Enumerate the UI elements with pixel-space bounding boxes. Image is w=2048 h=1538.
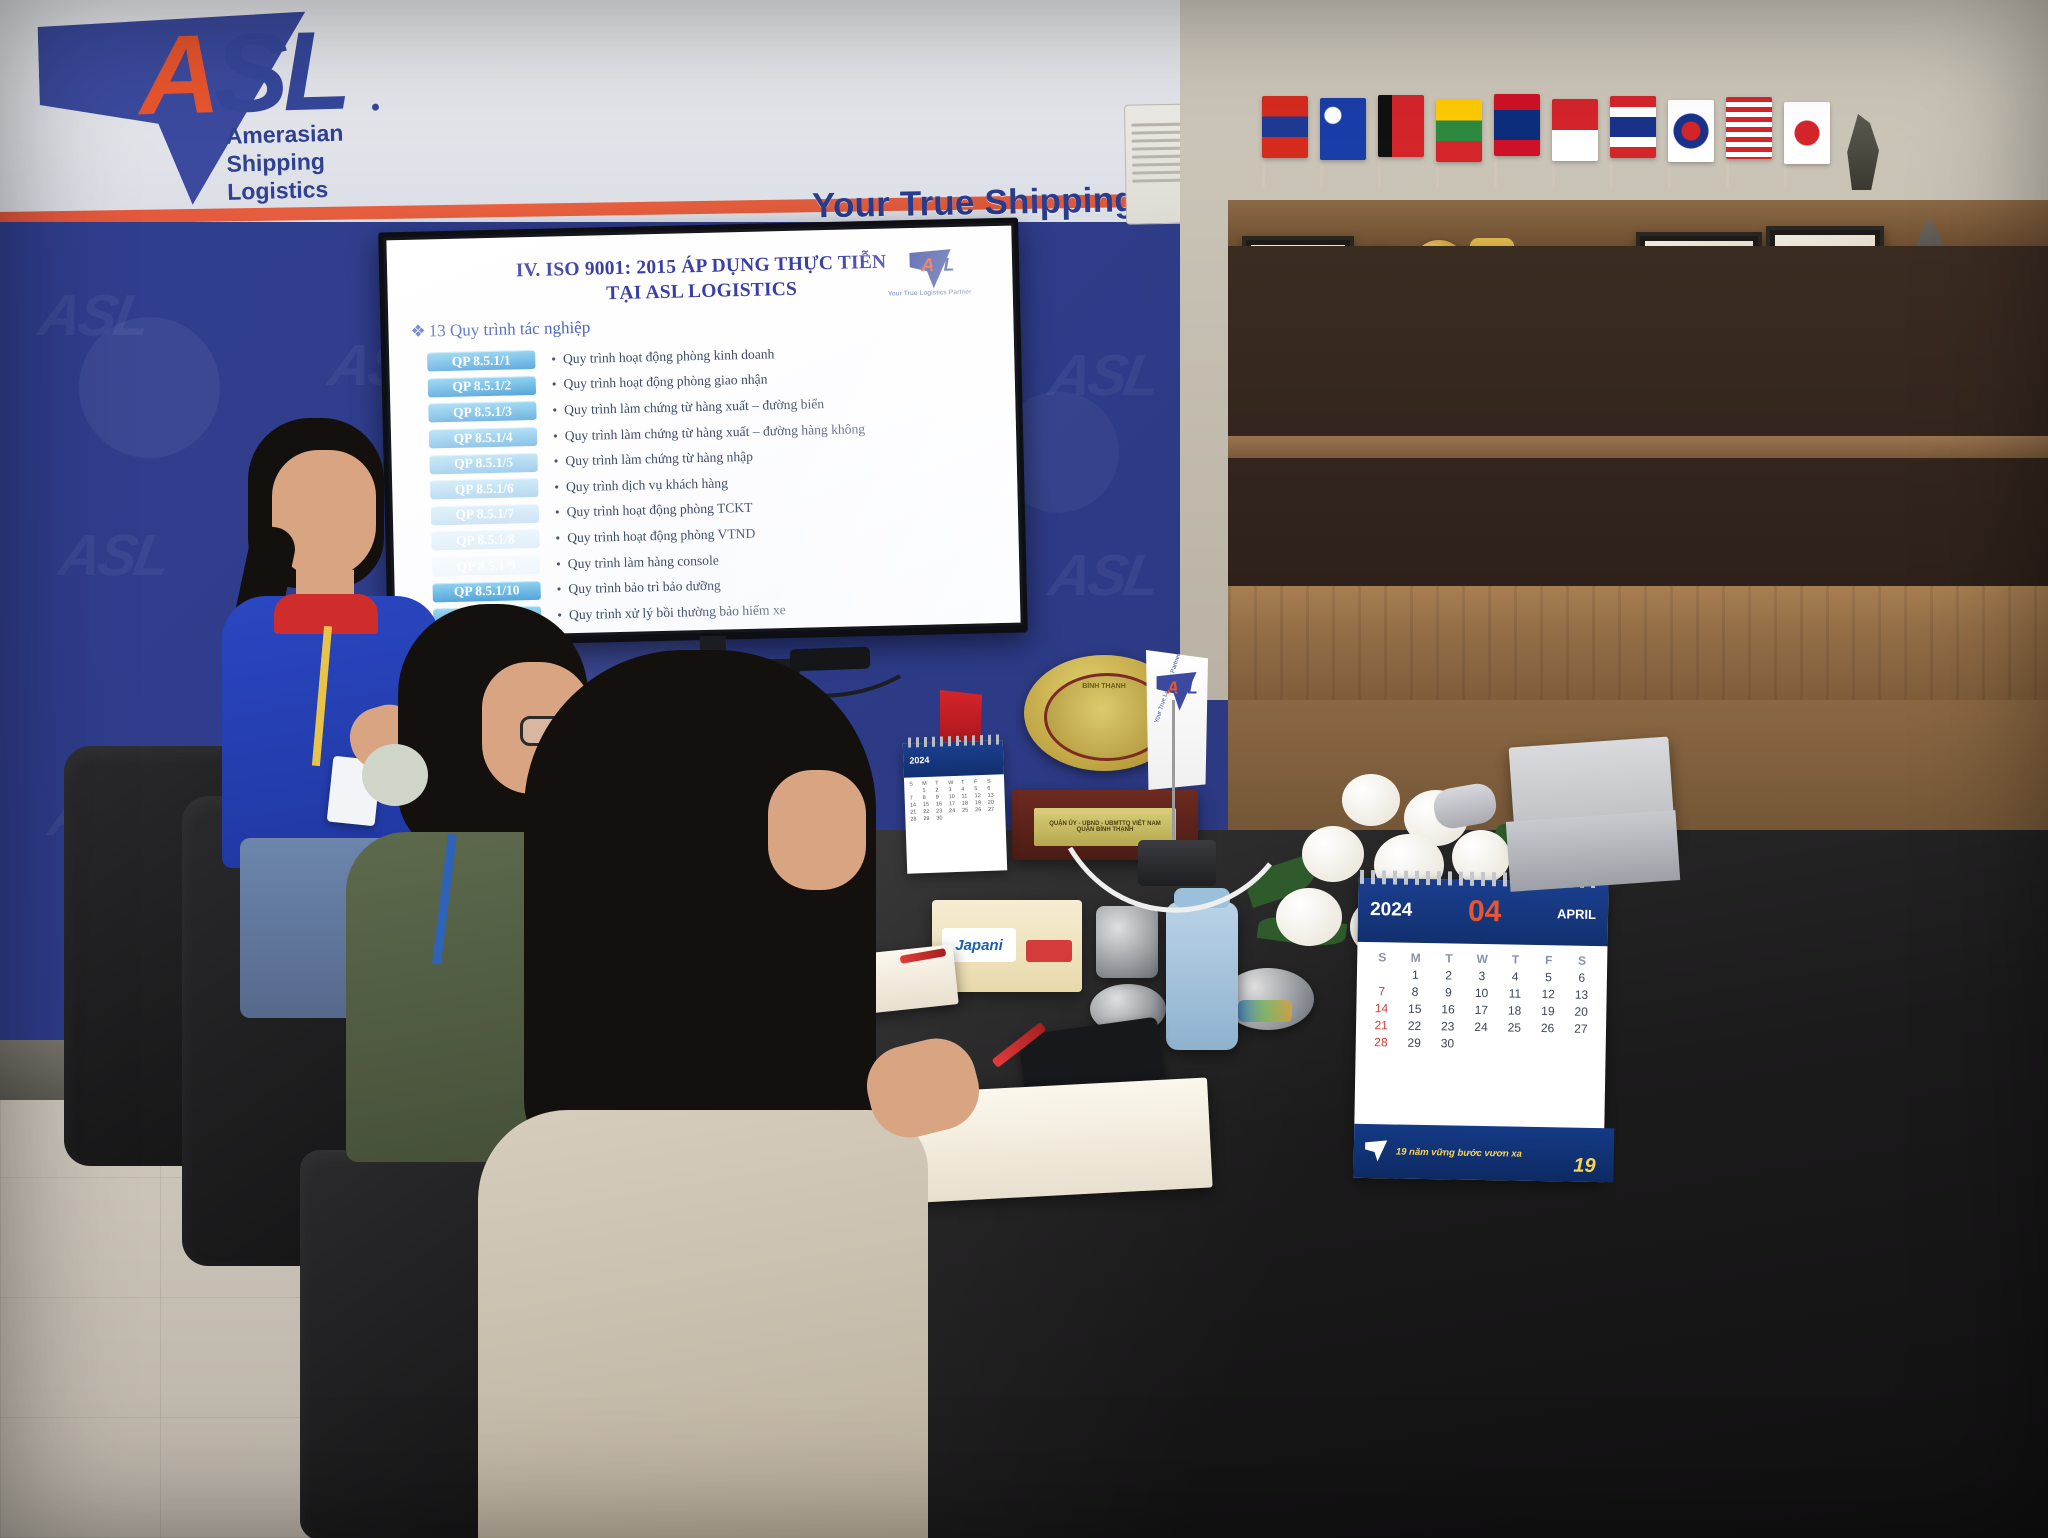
bronze-statue: [1834, 114, 1894, 190]
foreground-hair: [524, 650, 876, 1170]
wall-calendar-grid: SMTWTFS123456789101112131415161718192021…: [1356, 942, 1608, 1061]
watermark-asl: ASL: [34, 282, 153, 349]
calendar-weekday: F: [1534, 953, 1565, 968]
process-description: •Quy trình hoạt động phòng giao nhận: [552, 372, 768, 393]
calendar-day: 1: [1400, 968, 1431, 983]
asl-letter-a: A: [137, 11, 215, 138]
calendar-day: 15: [1400, 1002, 1431, 1017]
bullet-icon: •: [553, 454, 558, 469]
flag-myanmar: [1436, 100, 1482, 162]
flag-row: [1248, 86, 2038, 198]
asl-logo-dot: [372, 104, 379, 111]
diamond-bullet-icon: ❖: [410, 322, 426, 341]
calendar-weekday: T: [1434, 951, 1465, 966]
slide-asl-logo: A SL Your True Logistics Partner: [882, 249, 977, 298]
wall-calendar-month: APRIL: [1557, 906, 1596, 922]
calendar-day: 6: [1567, 970, 1598, 985]
slide-subtitle-text: 13 Quy trình tác nghiệp: [429, 318, 591, 341]
flag-cambodia: [1262, 96, 1308, 158]
company-line-3: Logistics: [227, 175, 345, 206]
process-description: •Quy trình hoạt động phòng VTND: [555, 526, 755, 547]
foreground-face: [768, 770, 866, 890]
calendar-day: 28: [1366, 1035, 1397, 1050]
asl-company-name: Amerasian Shipping Logistics: [225, 119, 345, 206]
calendar-day: 23: [1433, 1019, 1464, 1034]
calendar-day: 7: [1367, 984, 1398, 999]
calendar-weekday: W: [1467, 952, 1498, 967]
asl-banner-logo: ASL Amerasian Shipping Logistics: [37, 5, 402, 215]
process-list: QP 8.5.1/1•Quy trình hoạt động phòng kin…: [417, 336, 1005, 637]
calendar-day: 12: [1533, 987, 1564, 1002]
bullet-icon: •: [555, 505, 560, 520]
wall-calendar-year: 2024: [1370, 899, 1413, 922]
process-description: •Quy trình làm chứng từ hàng xuất – đườn…: [553, 421, 865, 444]
calendar-day: 30: [1432, 1036, 1463, 1051]
process-description: •Quy trình làm hàng console: [556, 552, 719, 572]
process-description-text: Quy trình hoạt động phòng kinh doanh: [563, 346, 775, 366]
calendar-weekday: T: [1500, 952, 1531, 967]
calendar-day: [1565, 1038, 1596, 1053]
calendar-weekday: M: [1400, 951, 1431, 966]
calendar-day: [1465, 1037, 1496, 1052]
calendar-day: 26: [1532, 1021, 1563, 1036]
asl-mark-icon: A SL: [909, 249, 950, 288]
bullet-icon: •: [556, 582, 561, 597]
watermark-asl: ASL: [54, 522, 173, 589]
process-description: •Quy trình làm chứng từ hàng nhập: [553, 449, 753, 470]
calendar-day: 13: [1566, 987, 1597, 1002]
hair-scrunchie: [362, 744, 428, 806]
process-description: •Quy trình hoạt động phòng TCKT: [555, 500, 753, 521]
company-line-2: Shipping: [226, 147, 344, 178]
person-attendee-foreground: [468, 650, 928, 1538]
process-description-text: Quy trình dịch vụ khách hàng: [566, 475, 728, 494]
calendar-day: 20: [1566, 1004, 1597, 1019]
bullet-icon: •: [551, 351, 556, 366]
wall-calendar-month-num: 04: [1468, 895, 1502, 930]
calendar-day: 19: [1533, 1004, 1564, 1019]
meeting-room-photo: ASL ASL ASL ASL ASL ASL ASL ASL Amerasia…: [0, 0, 2048, 1538]
calendar-day: 29: [1399, 1036, 1430, 1051]
power-cable: [1060, 830, 1280, 940]
laptop-keyboard: [1506, 810, 1680, 892]
foreground-beige-top: [478, 1110, 928, 1538]
slide-logo-caption: Your True Logistics Partner: [883, 289, 977, 298]
flag-singapore: [1552, 99, 1598, 161]
calendar-day: 10: [1466, 986, 1497, 1001]
trophy-title: BÌNH THẠNH: [1064, 683, 1144, 690]
calendar-day: 2: [1433, 968, 1464, 983]
calendar-day: [1367, 967, 1398, 982]
calendar-day: 18: [1499, 1003, 1530, 1018]
cabinet-dark-front: [1228, 246, 2048, 586]
calendar-day: 27: [1566, 1021, 1597, 1036]
watermark-asl: ASL: [1044, 342, 1163, 409]
calendar-day: [1532, 1038, 1563, 1053]
process-description-text: Quy trình làm hàng console: [568, 552, 719, 571]
calendar-day: 8: [1400, 985, 1431, 1000]
process-description-text: Quy trình hoạt động phòng VTND: [567, 526, 755, 545]
process-description: •Quy trình hoạt động phòng kinh doanh: [551, 346, 775, 367]
calendar-day: 3: [1467, 969, 1498, 984]
bullet-icon: •: [552, 402, 557, 417]
anniversary-badge: 19: [1573, 1155, 1596, 1178]
calendar-day: 24: [1466, 1020, 1497, 1035]
process-description-text: Quy trình hoạt động phòng TCKT: [566, 500, 752, 519]
calendar-day: 21: [1366, 1018, 1397, 1033]
bullet-icon: •: [552, 377, 557, 392]
flag-usa: [1726, 97, 1772, 159]
calendar-day: [1499, 1037, 1530, 1052]
company-line-1: Amerasian: [225, 119, 343, 150]
bullet-icon: •: [554, 479, 559, 494]
process-description: •Quy trình dịch vụ khách hàng: [554, 475, 728, 495]
wall-calendar-footer: 19 năm vững bước vươn xa: [1396, 1146, 1522, 1159]
calendar-day: 25: [1499, 1020, 1530, 1035]
flag-laos: [1494, 94, 1540, 156]
asl-table-flag: A SL Your True Logistics Partner: [1146, 650, 1208, 790]
slide-subtitle: ❖13 Quy trình tác nghiệp: [410, 318, 590, 342]
bullet-icon: •: [553, 428, 558, 443]
calendar-day: 17: [1466, 1003, 1497, 1018]
process-description: •Quy trình bảo trì bảo dưỡng: [556, 578, 720, 598]
svg-text:SL: SL: [1176, 677, 1198, 697]
process-description-text: Quy trình làm chứng từ hàng xuất – đường…: [565, 421, 866, 443]
bullet-icon: •: [555, 530, 560, 545]
process-code-chip: QP 8.5.1/1: [427, 350, 535, 372]
process-description: •Quy trình làm chứng từ hàng xuất – đườn…: [552, 396, 824, 418]
calendar-day: 4: [1500, 969, 1531, 984]
cabinet-shelf-middle: [1228, 436, 2048, 458]
process-description-text: Quy trình làm chứng từ hàng xuất – đường…: [564, 396, 824, 417]
process-description-text: Quy trình bảo trì bảo dưỡng: [568, 578, 721, 597]
flag-south-korea: [1668, 100, 1714, 162]
asl-letters-sl: SL: [212, 8, 347, 137]
flag-japan: [1784, 102, 1830, 164]
calendar-weekday: S: [1567, 953, 1598, 968]
calendar-day: 22: [1399, 1019, 1430, 1034]
calendar-day: 11: [1500, 986, 1531, 1001]
process-description-text: Quy trình làm chứng từ hàng nhập: [565, 449, 753, 468]
cabinet-wood-base: [1228, 586, 2048, 706]
calendar-weekday: S: [1367, 950, 1398, 965]
process-description-text: Quy trình hoạt động phòng giao nhận: [563, 372, 767, 392]
calendar-day: 9: [1433, 985, 1464, 1000]
wall-calendar: 2024 04 APRIL SMTWTFS1234567891011121314…: [1353, 878, 1608, 1182]
calendar-day: 5: [1533, 970, 1564, 985]
watermark-asl: ASL: [1044, 542, 1163, 609]
flag-timor-leste: [1378, 95, 1424, 157]
svg-text:SL: SL: [931, 253, 954, 275]
flag-thailand: [1610, 96, 1656, 158]
calendar-day: 16: [1433, 1002, 1464, 1017]
process-code-chip: QP 8.5.1/2: [428, 376, 536, 398]
asl-logo-wordmark: ASL: [137, 15, 346, 133]
bullet-icon: •: [556, 556, 561, 571]
calendar-day: 14: [1366, 1001, 1397, 1016]
flag-taiwan: [1320, 98, 1366, 160]
